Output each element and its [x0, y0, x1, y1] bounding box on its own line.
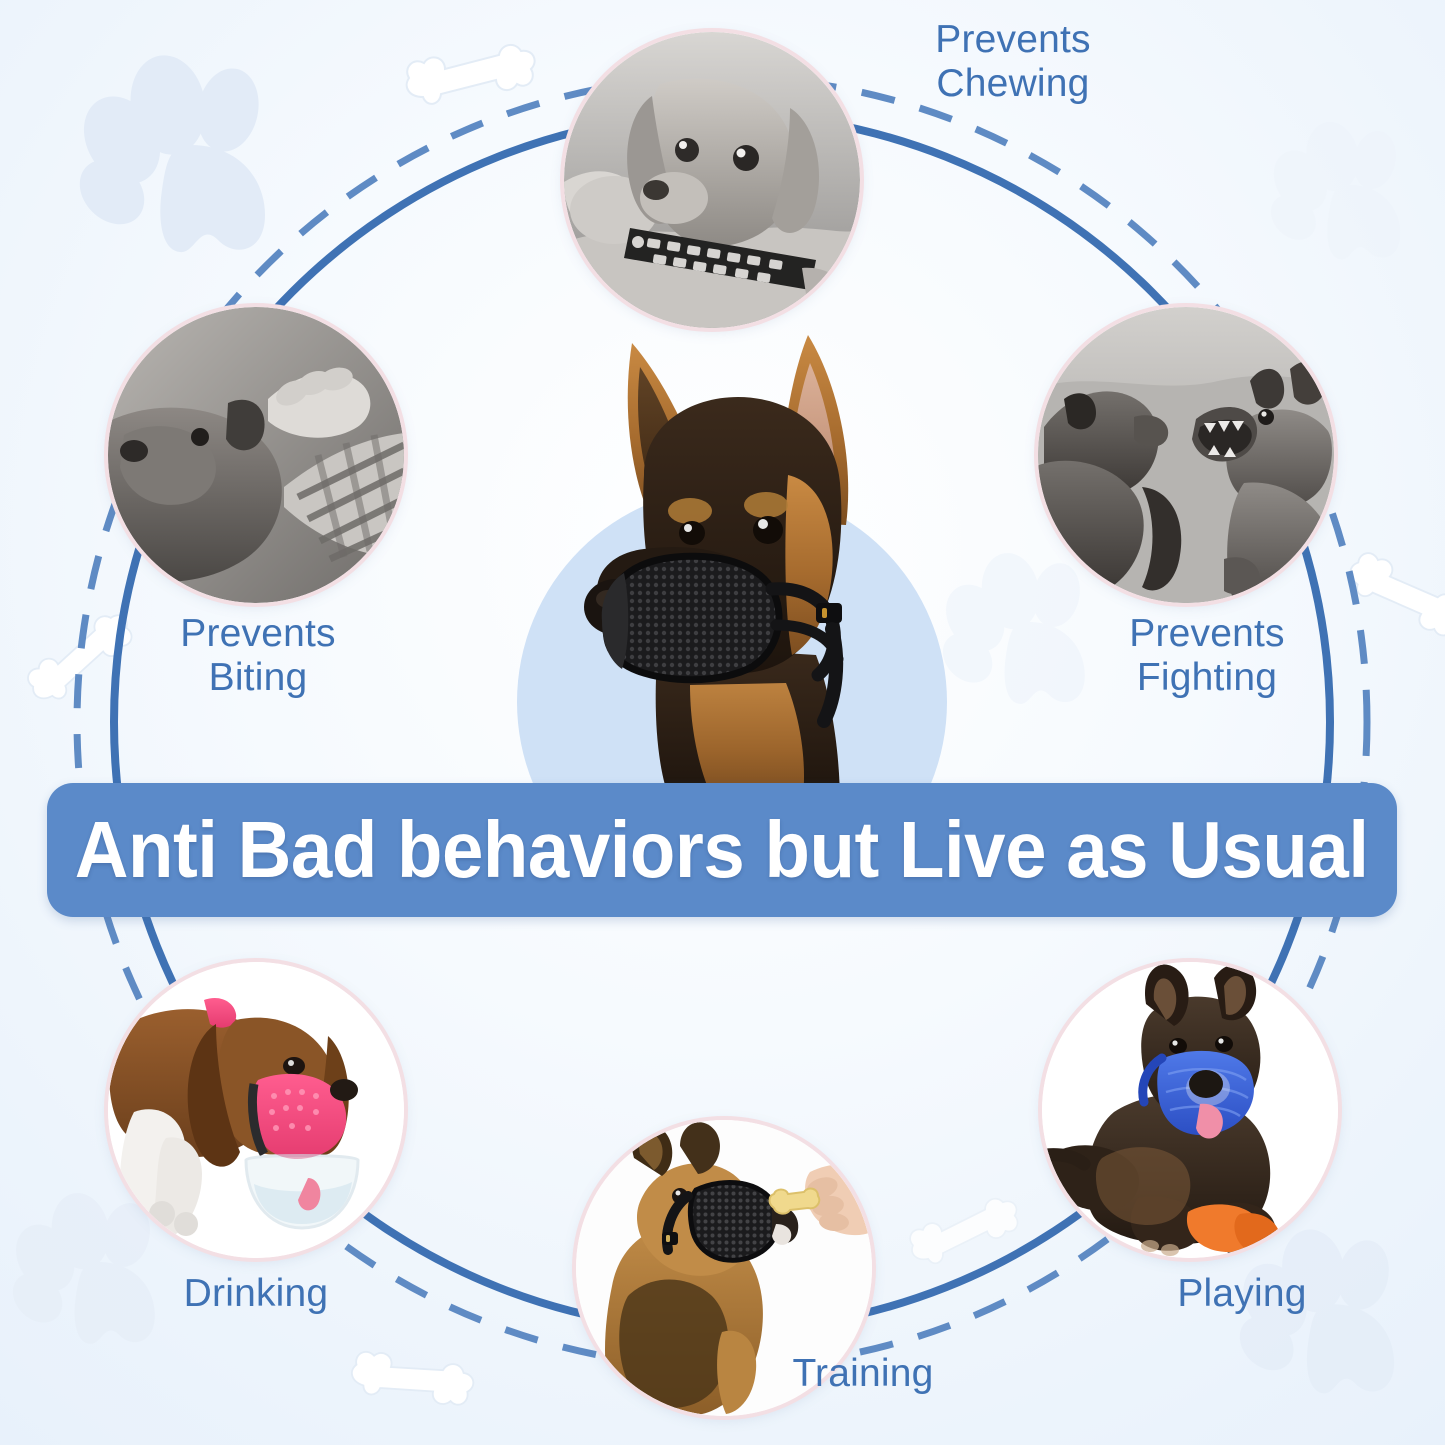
label-playing: Playing [1097, 1272, 1387, 1316]
photo-beagle-drinking [108, 962, 404, 1258]
label-prevents-fighting: Prevents Fighting [1062, 612, 1352, 700]
node-prevents-biting[interactable] [108, 307, 404, 603]
node-playing[interactable] [1042, 962, 1338, 1258]
bone-icon [330, 1321, 490, 1445]
center-dog-with-muzzle [540, 325, 930, 805]
infographic-canvas: Prevents Chewing [0, 0, 1445, 1445]
photo-puppy-chewing-remote [564, 32, 860, 328]
photo-malinois-playing [1042, 962, 1338, 1258]
photo-dog-biting-hand [108, 307, 404, 603]
bone-icon [893, 1182, 1037, 1289]
node-prevents-chewing[interactable] [564, 32, 860, 328]
headline-text: Anti Bad behaviors but Live as Usual [75, 804, 1369, 896]
paw-print-icon [50, 40, 350, 330]
node-drinking[interactable] [108, 962, 404, 1258]
paw-print-icon [1215, 1215, 1445, 1445]
paw-print-icon [1250, 110, 1445, 315]
headline-banner: Anti Bad behaviors but Live as Usual [47, 783, 1397, 917]
node-prevents-fighting[interactable] [1038, 307, 1334, 603]
label-prevents-chewing: Prevents Chewing [868, 18, 1158, 106]
label-drinking: Drinking [111, 1272, 401, 1316]
label-prevents-biting: Prevents Biting [113, 612, 403, 700]
bone-icon [395, 35, 545, 125]
label-training: Training [718, 1352, 1008, 1396]
photo-two-dogs-fighting [1038, 307, 1334, 603]
